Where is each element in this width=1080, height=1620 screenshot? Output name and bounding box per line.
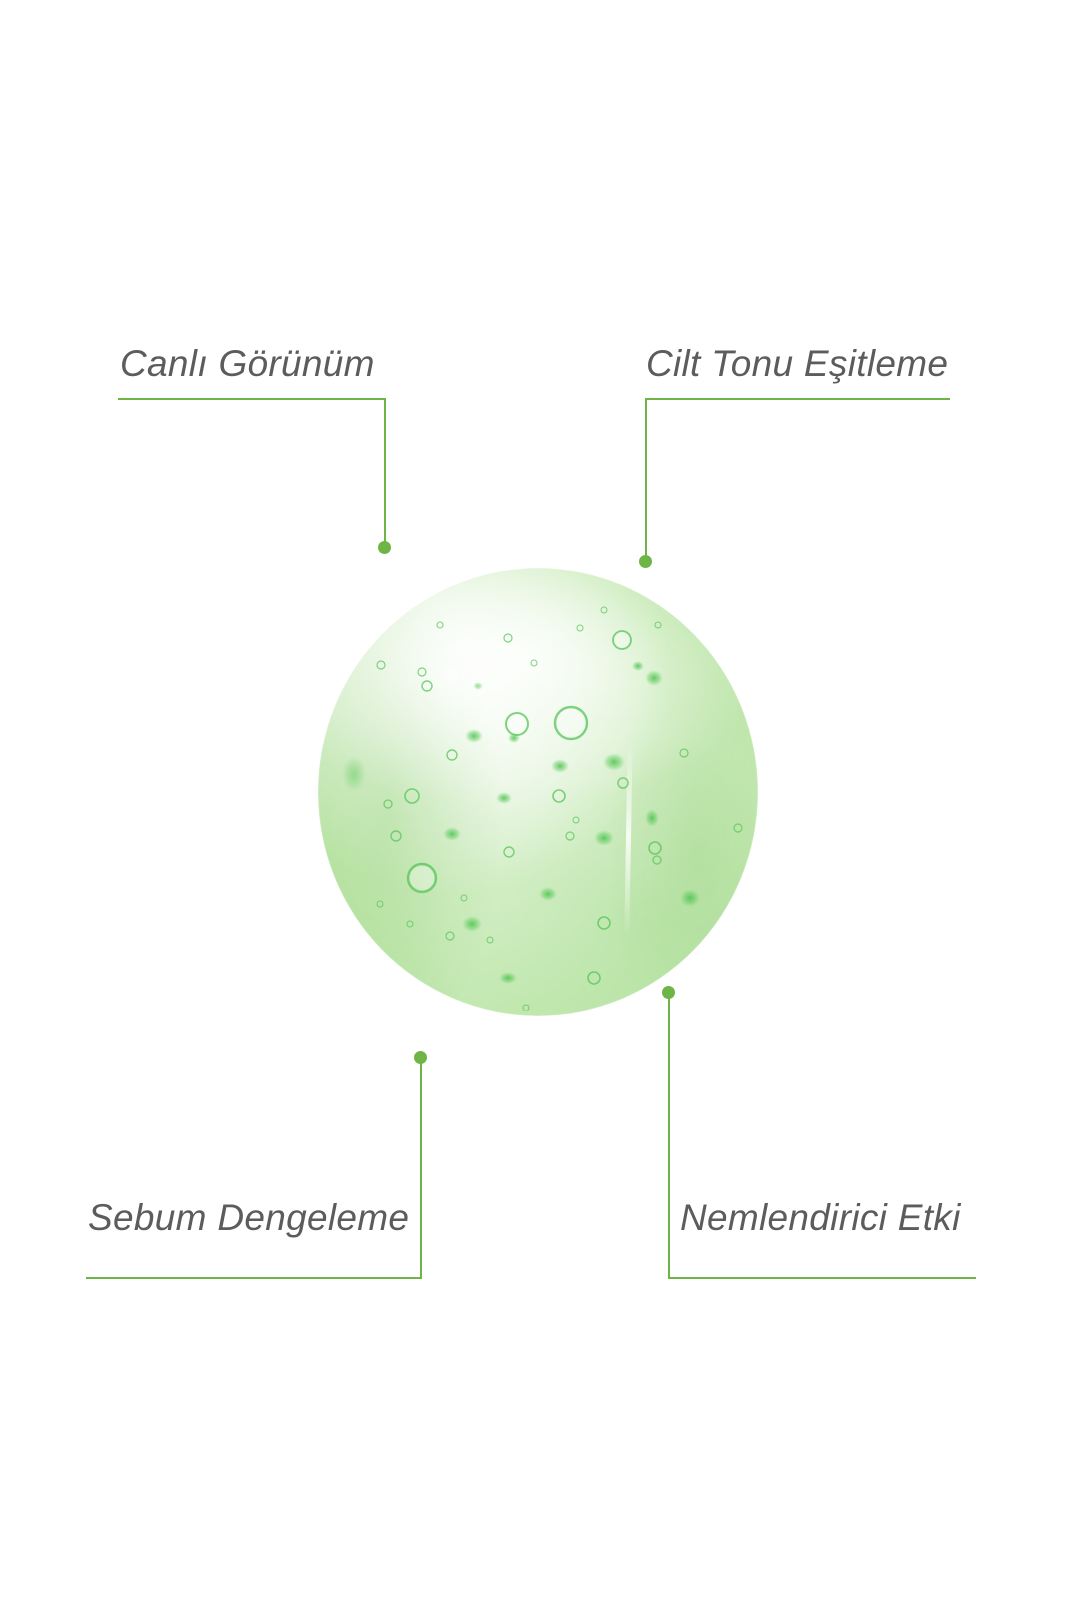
callout-label-cilt-tonu-esitleme: Cilt Tonu Eşitleme bbox=[646, 345, 948, 382]
callout-label-sebum-dengeleme: Sebum Dengeleme bbox=[88, 1199, 409, 1236]
callout-label-canli-gorunum: Canlı Görünüm bbox=[120, 345, 375, 382]
gel-texture-swatch bbox=[318, 568, 758, 1016]
callout-node-canli-gorunum bbox=[378, 541, 391, 554]
infographic-canvas: Canlı Görünüm Cilt Tonu Eşitleme Sebum D… bbox=[0, 0, 1080, 1620]
callout-node-cilt-tonu-esitleme bbox=[639, 555, 652, 568]
callout-stem-cilt-tonu-esitleme bbox=[645, 398, 647, 562]
callout-rule-cilt-tonu-esitleme bbox=[645, 398, 950, 400]
callout-rule-canli-gorunum bbox=[118, 398, 386, 400]
callout-label-nemlendirici-etki: Nemlendirici Etki bbox=[680, 1199, 961, 1236]
callout-rule-sebum-dengeleme bbox=[86, 1277, 422, 1279]
callout-stem-nemlendirici-etki bbox=[668, 992, 670, 1279]
gel-blob-base bbox=[318, 568, 758, 1016]
callout-stem-canli-gorunum bbox=[384, 398, 386, 548]
callout-stem-sebum-dengeleme bbox=[420, 1057, 422, 1279]
callout-rule-nemlendirici-etki bbox=[668, 1277, 976, 1279]
